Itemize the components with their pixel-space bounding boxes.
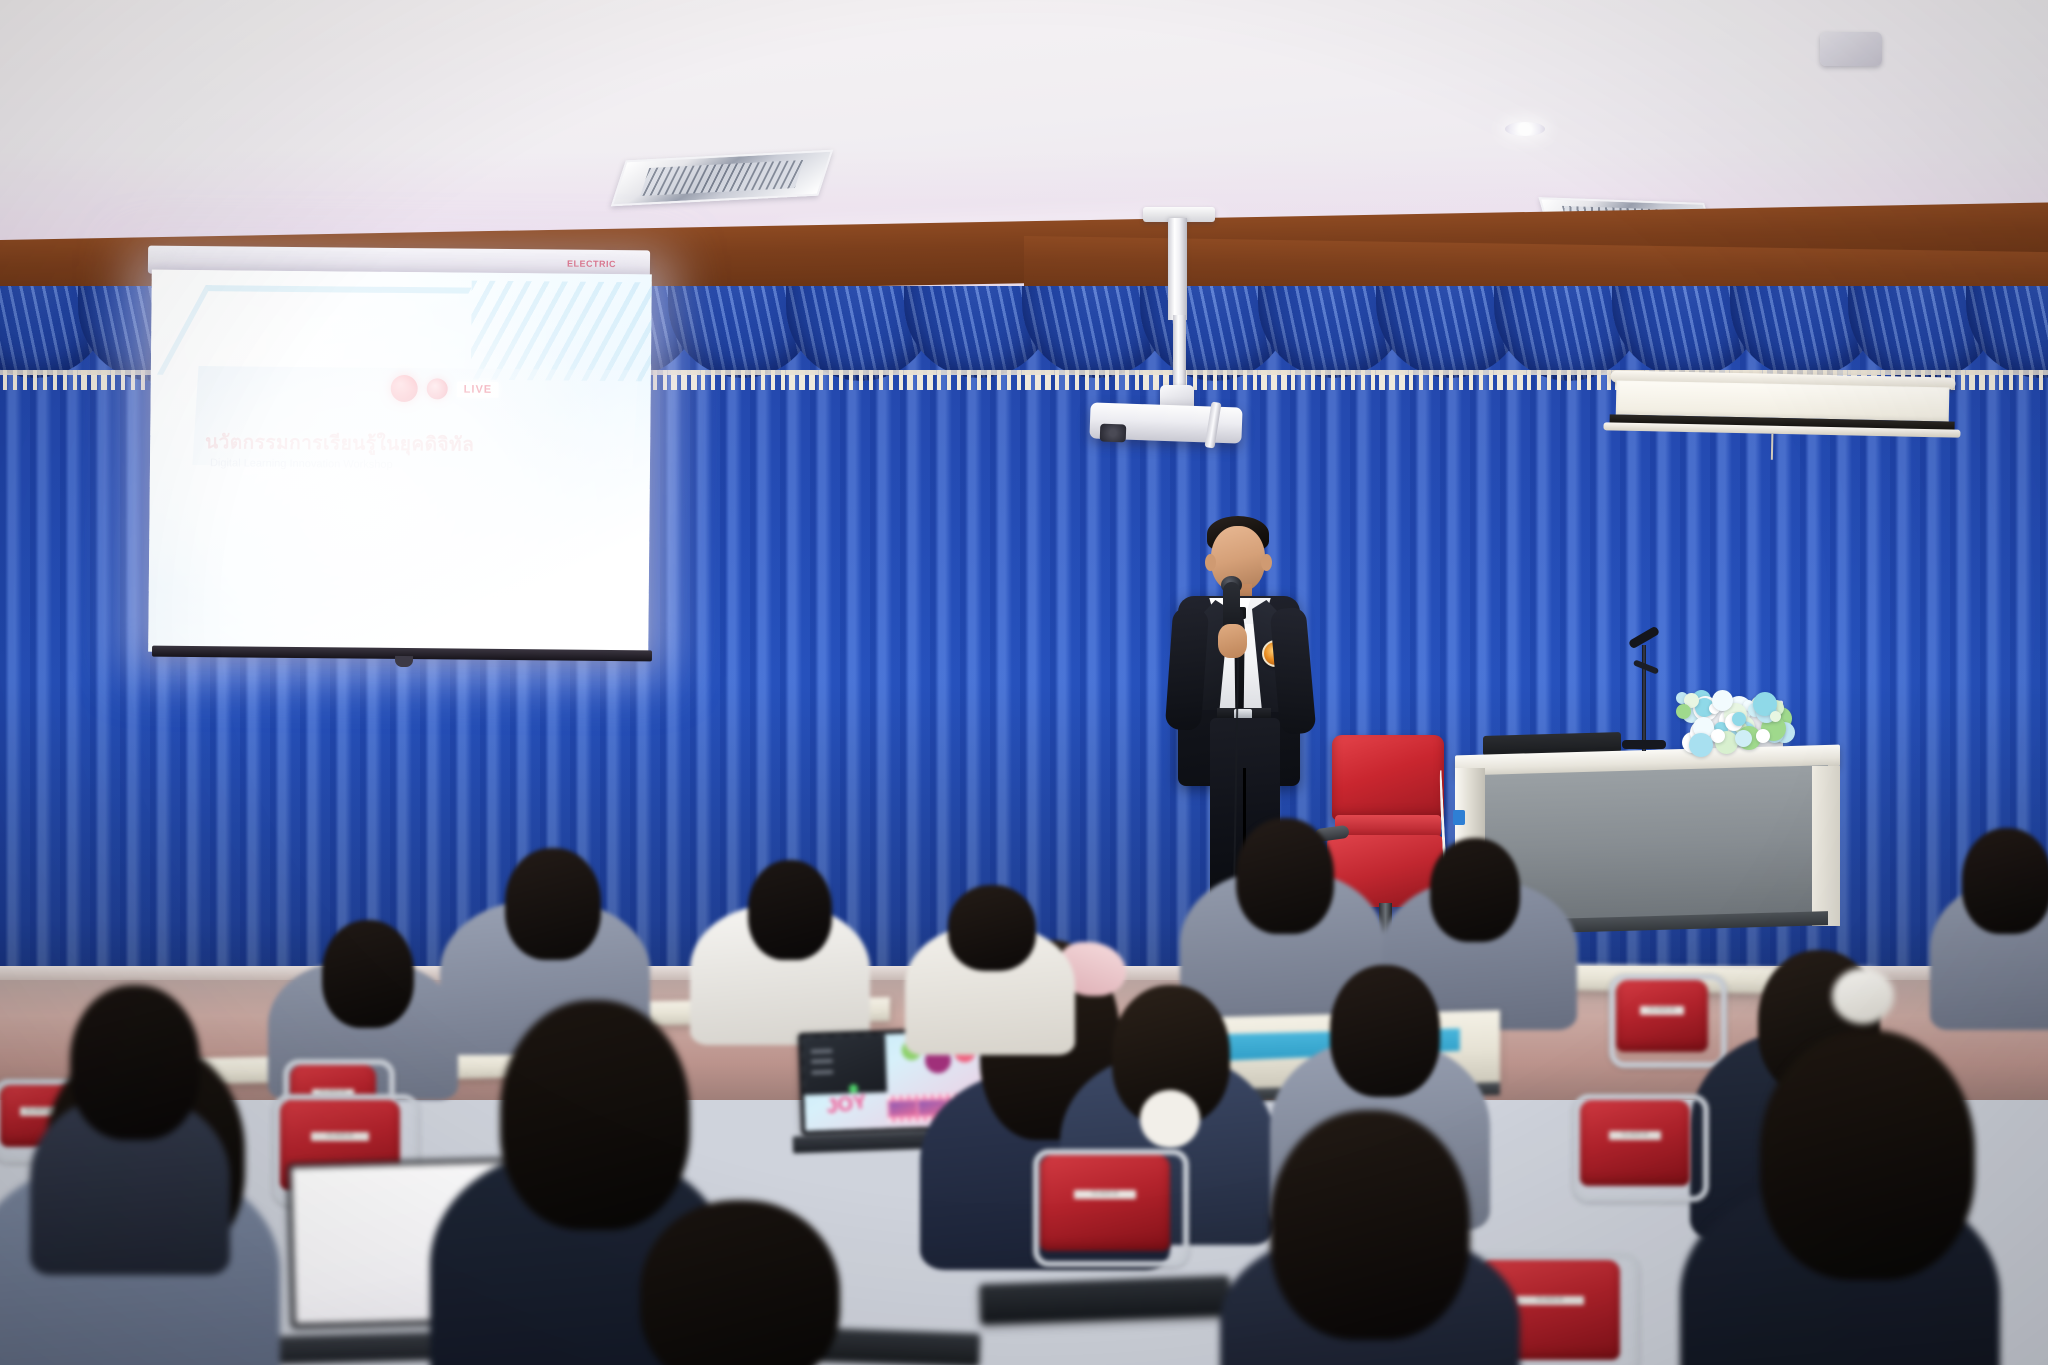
canvas-caption: JOY — [825, 1091, 868, 1119]
flower-petal — [1756, 729, 1770, 743]
chair-asset-label: CU-AUD-02 — [1609, 1131, 1662, 1140]
audience-chair[interactable]: CU-AUD-02 — [1040, 1155, 1170, 1251]
flower-petal — [1711, 729, 1725, 743]
flower-petal — [1676, 704, 1691, 719]
chair-backrest — [1616, 980, 1708, 1052]
flower-petal — [1770, 711, 1781, 722]
audience-member-head — [1430, 838, 1520, 942]
chair-backrest — [1040, 1155, 1170, 1251]
audience-member-head — [70, 985, 200, 1140]
flower-petal — [1712, 690, 1733, 711]
flower-arrangement — [1676, 690, 1796, 752]
chair-backrest — [1580, 1100, 1690, 1186]
panel-row — [811, 1059, 833, 1064]
projector-lens-icon — [1100, 424, 1127, 443]
chair-asset-label: CU-AUD-02 — [1516, 1296, 1583, 1305]
chair-lumbar-pad — [1335, 815, 1441, 837]
vent-slats — [640, 160, 804, 197]
audience-member-head — [1962, 828, 2048, 934]
chair-asset-label: CU-AUD-02 — [311, 1132, 369, 1141]
microphone-stand-base — [1622, 740, 1666, 749]
slide-title: นวัตกรรมการเรียนรู้ในยุคดิจิทัล — [205, 427, 605, 461]
slide-watermark-badge: LIVE — [457, 381, 500, 397]
audience-member-head — [500, 1000, 690, 1230]
chair-asset-label: CU-AUD-02 — [1074, 1190, 1136, 1199]
projection-screen-pull-tab[interactable] — [395, 656, 413, 667]
flower-petal — [1732, 712, 1746, 726]
audience-member-head — [1270, 1110, 1470, 1340]
downlight — [1505, 122, 1545, 136]
curtain-fringe — [1966, 370, 2048, 390]
smoke-detector — [1820, 32, 1882, 66]
hair-accessory-white — [1832, 968, 1894, 1024]
main-projection-screen: LIVE นวัตกรรมการเรียนรู้ในยุคดิจิทัล Dig… — [148, 270, 652, 657]
audience-member-head — [1330, 965, 1440, 1097]
presentation-slide: LIVE นวัตกรรมการเรียนรู้ในยุคดิจิทัล Dig… — [148, 270, 652, 657]
hair-bun — [1140, 1090, 1200, 1148]
audience-laptop-closed[interactable] — [979, 1276, 1230, 1325]
presenter-ear — [1261, 554, 1272, 571]
screen-brand-label: ELECTRIC — [567, 259, 616, 269]
curtain-swag — [1966, 286, 2048, 378]
audience-member-head — [640, 1200, 840, 1365]
audience-chair[interactable]: CU-AUD-02 — [1616, 980, 1708, 1052]
audience-member-head — [948, 885, 1036, 971]
app-tool-panel — [802, 1034, 887, 1095]
desk-leg-right — [1812, 766, 1840, 926]
floor-microphone-stand[interactable] — [1642, 645, 1646, 751]
panel-row — [811, 1049, 833, 1054]
secondary-logo-icon — [427, 378, 448, 399]
flower-petal — [1689, 733, 1713, 757]
audience-member-head — [748, 860, 832, 960]
organization-logo-icon — [391, 375, 418, 402]
chair-asset-label: CU-AUD-02 — [1640, 1006, 1684, 1015]
slide-logo-group: LIVE — [391, 375, 500, 403]
filmstrip-frame — [889, 1101, 917, 1116]
cable-clip — [1453, 810, 1465, 825]
audience-chair[interactable]: CU-AUD-02 — [1580, 1100, 1690, 1186]
audience-member-head — [505, 848, 601, 960]
presenter-ear — [1205, 554, 1216, 571]
flower-petal — [1735, 730, 1752, 747]
panel-row — [812, 1070, 834, 1075]
slide-decoration-chevron — [157, 285, 472, 377]
lecture-hall-scene: ELECTRIC LIVE นวัตกรรมการเรียนรู้ในยุคดิ… — [0, 0, 2048, 1365]
presenter-hand — [1218, 624, 1247, 658]
slide-decoration-stripes — [471, 280, 652, 381]
slide-subtitle: Digital Learning Innovation Workshop — [210, 457, 590, 473]
audience-member-head — [322, 920, 414, 1028]
secondary-projection-screen[interactable] — [1609, 370, 1955, 439]
projector-mount-pole — [1168, 218, 1187, 320]
chair-backrest — [1332, 735, 1444, 820]
audience-member-head — [1236, 818, 1334, 934]
audience-member-head — [1760, 1030, 1975, 1280]
